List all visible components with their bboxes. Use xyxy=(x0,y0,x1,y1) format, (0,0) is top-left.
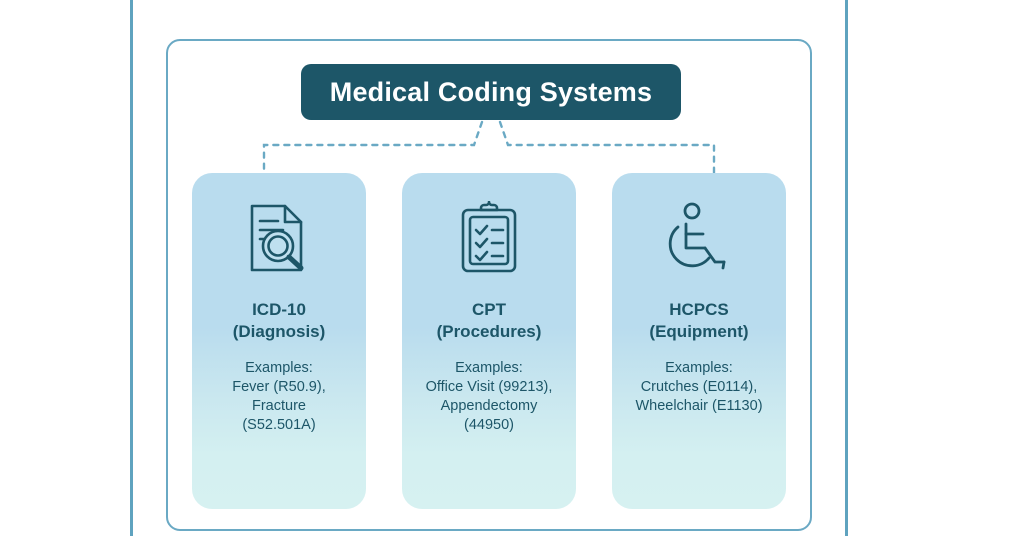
document-magnifier-icon xyxy=(242,199,316,277)
example-line: (44950) xyxy=(426,416,553,435)
card-heading-icd10: ICD-10 (Diagnosis) xyxy=(233,299,326,343)
card-heading-line1: CPT xyxy=(472,300,506,319)
example-line: Crutches (E0114), xyxy=(635,378,762,397)
card-icd10[interactable]: ICD-10 (Diagnosis) Examples: Fever (R50.… xyxy=(192,173,366,509)
card-heading-line1: HCPCS xyxy=(669,300,729,319)
page-rule-left xyxy=(130,0,133,536)
diagram-title-banner: Medical Coding Systems xyxy=(301,64,681,120)
card-examples-hcpcs: Examples: Crutches (E0114), Wheelchair (… xyxy=(629,359,768,416)
example-line: Wheelchair (E1130) xyxy=(635,397,762,416)
example-line: (S52.501A) xyxy=(232,416,325,435)
card-heading-line2: (Diagnosis) xyxy=(233,321,326,343)
diagram-title-text: Medical Coding Systems xyxy=(330,77,652,108)
page-rule-right xyxy=(845,0,848,536)
card-heading-cpt: CPT (Procedures) xyxy=(437,299,542,343)
card-row: ICD-10 (Diagnosis) Examples: Fever (R50.… xyxy=(192,173,786,509)
example-line: Appendectomy xyxy=(426,397,553,416)
example-line: Examples: xyxy=(232,359,325,378)
card-examples-cpt: Examples: Office Visit (99213), Appendec… xyxy=(420,359,559,435)
card-hcpcs[interactable]: HCPCS (Equipment) Examples: Crutches (E0… xyxy=(612,173,786,509)
example-line: Office Visit (99213), xyxy=(426,378,553,397)
card-heading-line2: (Equipment) xyxy=(649,321,748,343)
card-heading-line1: ICD-10 xyxy=(252,300,306,319)
card-heading-line2: (Procedures) xyxy=(437,321,542,343)
wheelchair-accessibility-icon xyxy=(662,199,736,277)
card-heading-hcpcs: HCPCS (Equipment) xyxy=(649,299,748,343)
clipboard-checklist-icon xyxy=(452,199,526,277)
card-cpt[interactable]: CPT (Procedures) Examples: Office Visit … xyxy=(402,173,576,509)
card-examples-icd10: Examples: Fever (R50.9), Fracture (S52.5… xyxy=(226,359,331,435)
example-line: Fever (R50.9), xyxy=(232,378,325,397)
example-line: Examples: xyxy=(426,359,553,378)
example-line: Examples: xyxy=(635,359,762,378)
example-line: Fracture xyxy=(232,397,325,416)
